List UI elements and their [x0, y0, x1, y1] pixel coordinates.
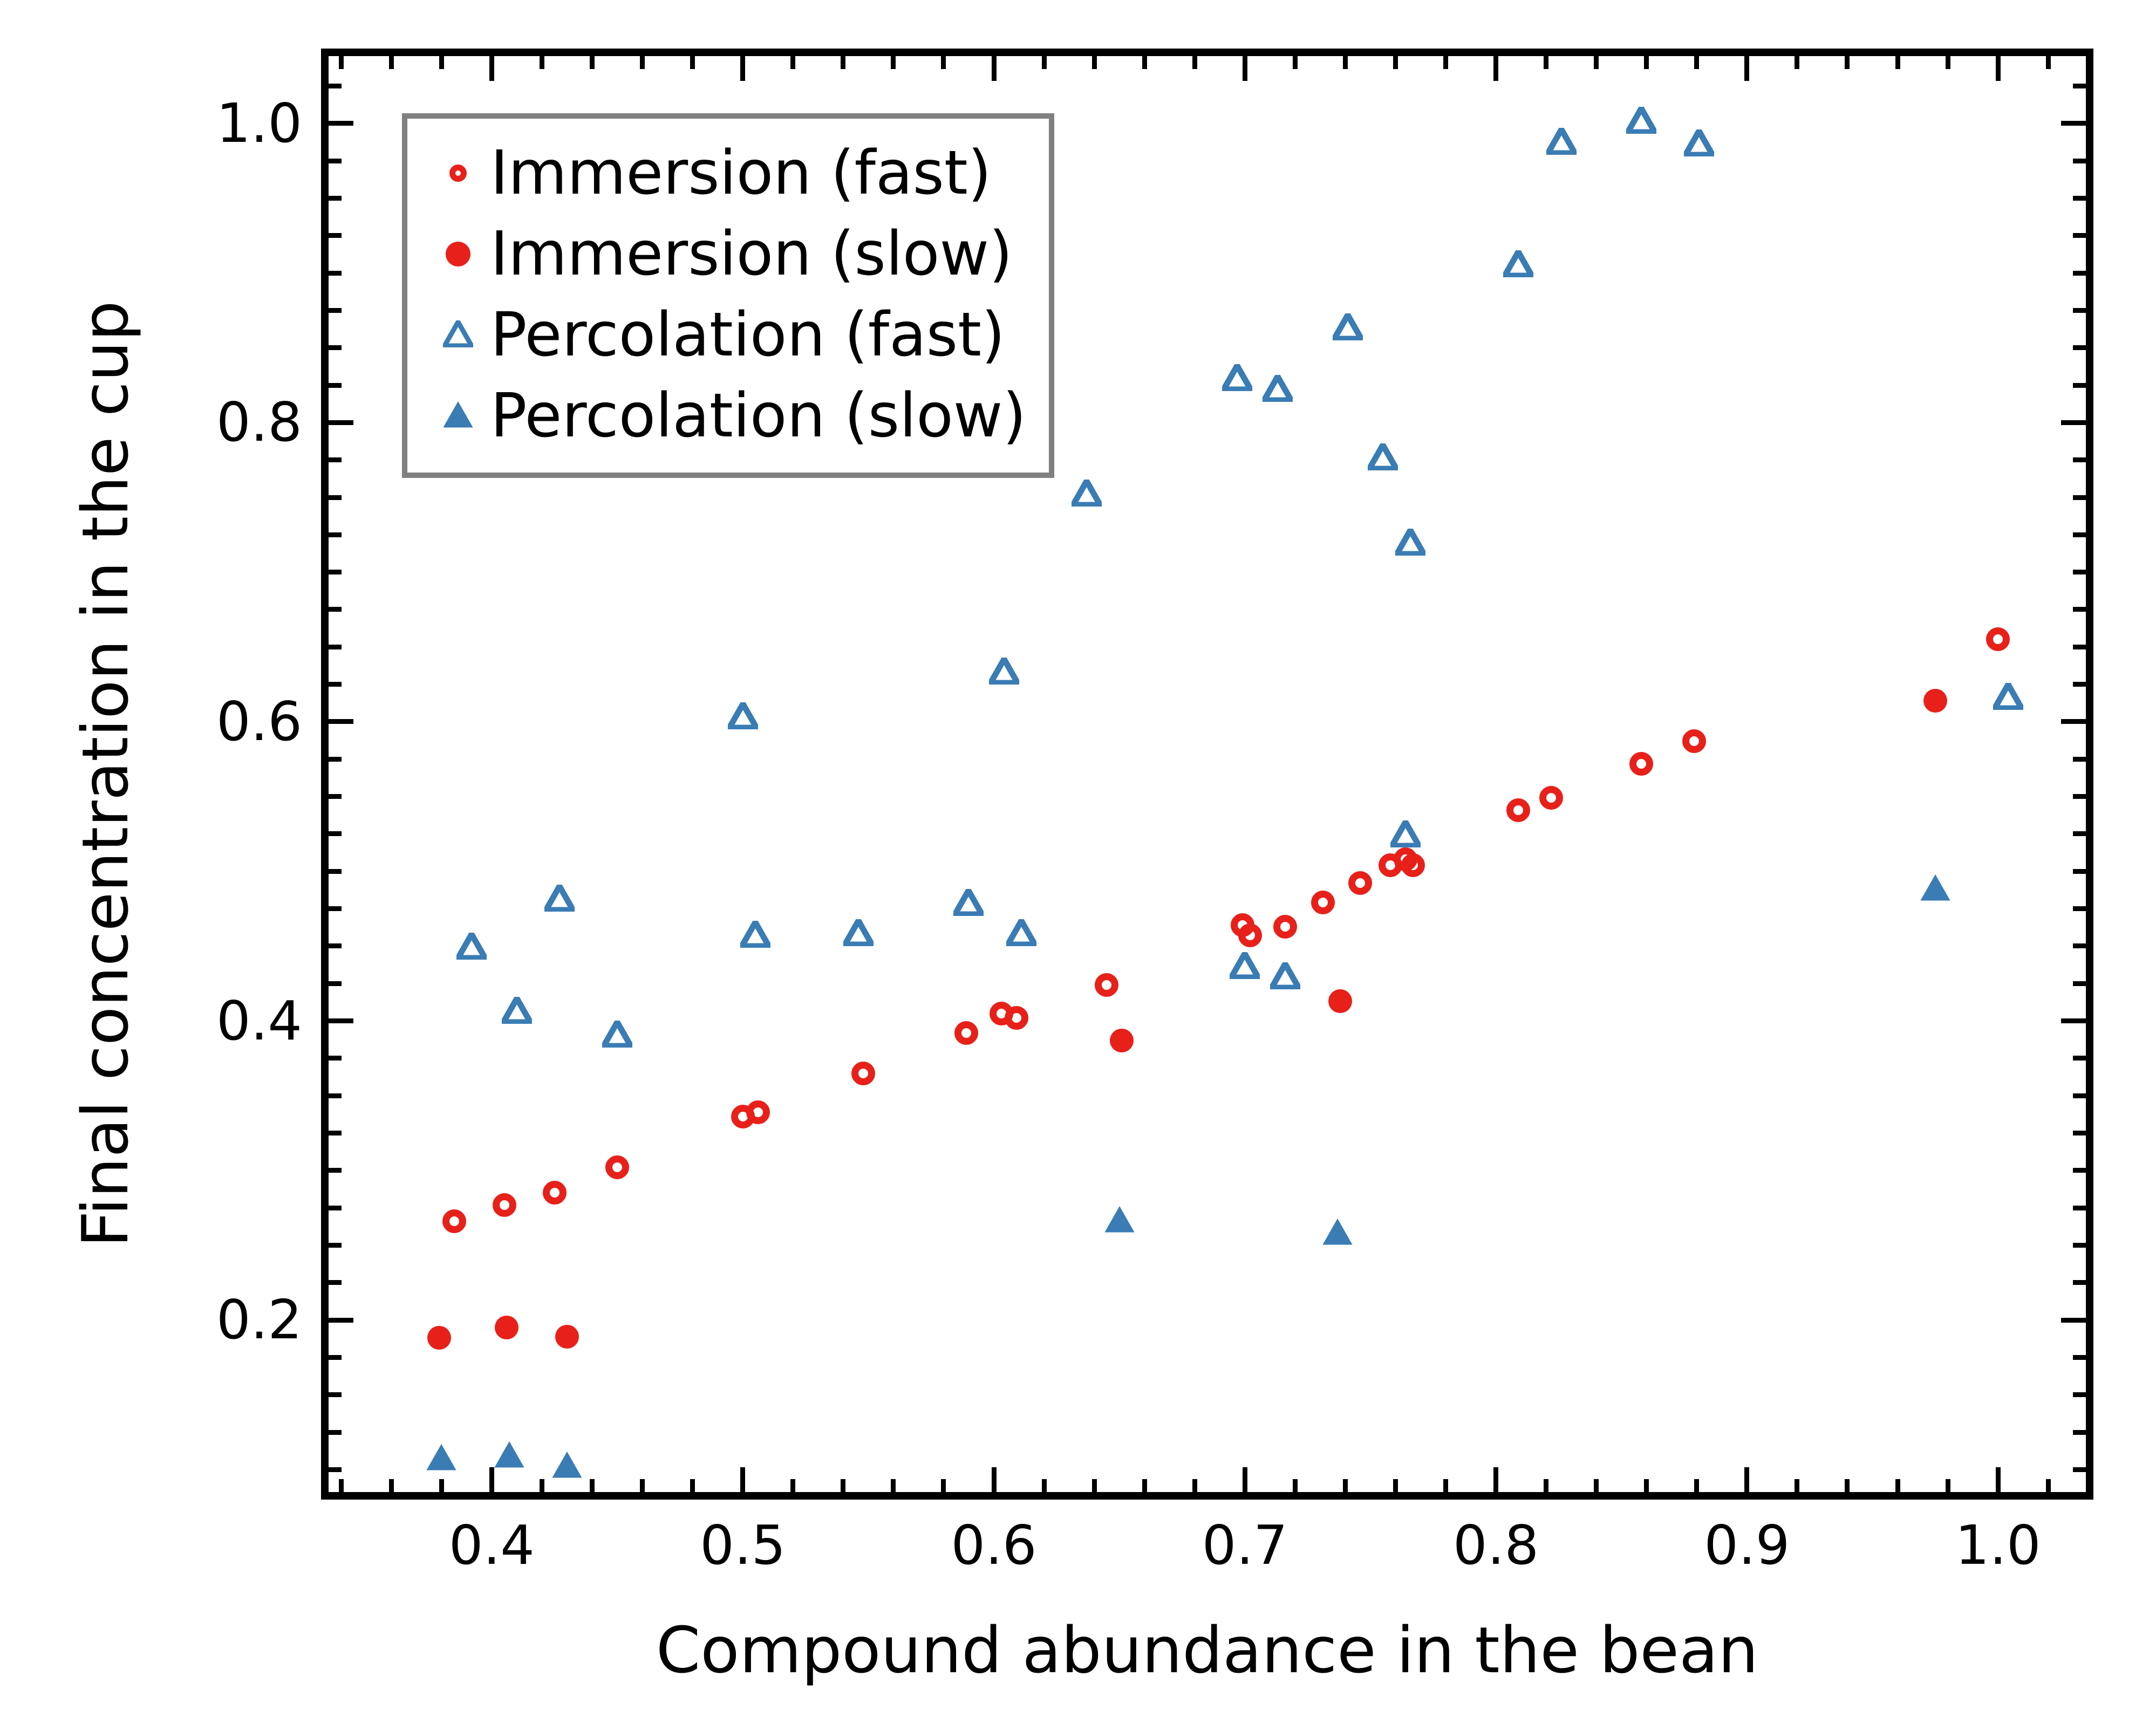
- axis-tick: [1594, 1479, 1599, 1492]
- data-point: [989, 658, 1019, 685]
- axis-tick: [2073, 906, 2086, 911]
- axis-tick: [389, 1479, 394, 1492]
- axis-tick: [329, 1243, 342, 1248]
- axis-tick: [329, 1056, 342, 1061]
- axis-tick: [2073, 831, 2086, 836]
- axis-tick: [2073, 383, 2086, 388]
- axis-tick: [1895, 56, 1900, 69]
- data-point: [1503, 250, 1533, 277]
- data-point: [552, 1452, 582, 1479]
- axis-tick: [329, 1168, 342, 1173]
- data-point: [1006, 919, 1036, 946]
- axis-tick: [2061, 420, 2086, 425]
- axis-tick: [2073, 869, 2086, 874]
- data-point: [851, 1062, 875, 1085]
- data-point: [1311, 891, 1335, 914]
- x-tick-label: 0.8: [1453, 1518, 1539, 1572]
- axis-tick: [329, 196, 342, 201]
- axis-tick: [329, 570, 342, 574]
- axis-tick: [329, 719, 353, 724]
- open-triangle-icon-wrapper: [426, 320, 490, 350]
- axis-tick: [1544, 1479, 1548, 1492]
- axis-tick: [2073, 943, 2086, 948]
- axis-tick: [2073, 1355, 2086, 1360]
- data-point: [426, 1444, 456, 1471]
- data-point: [1095, 973, 1118, 997]
- legend-item-0[interactable]: Immersion (fast): [426, 133, 1026, 214]
- data-point: [1923, 689, 1947, 713]
- axis-tick: [2061, 719, 2086, 724]
- data-point: [1222, 364, 1252, 391]
- axis-tick: [1795, 56, 1799, 69]
- axis-tick: [329, 383, 342, 388]
- legend-item-3[interactable]: Percolation (slow): [426, 375, 1026, 456]
- axis-tick: [2061, 121, 2086, 126]
- axis-tick: [1343, 56, 1348, 69]
- legend-label: Immersion (slow): [490, 224, 1013, 284]
- x-tick-label: 0.7: [1202, 1518, 1288, 1572]
- data-point: [746, 1100, 770, 1124]
- data-point: [740, 921, 770, 948]
- axis-tick: [439, 1479, 444, 1492]
- axis-tick: [2073, 345, 2086, 350]
- axis-tick: [1293, 56, 1298, 69]
- axis-tick: [2073, 757, 2086, 762]
- axis-tick: [329, 943, 342, 948]
- legend-item-2[interactable]: Percolation (fast): [426, 295, 1026, 375]
- y-tick-label: 1.0: [216, 97, 302, 150]
- axis-tick: [841, 1479, 845, 1492]
- axis-tick: [329, 645, 342, 649]
- axis-tick: [891, 56, 896, 69]
- axis-tick: [329, 420, 353, 425]
- data-point: [1682, 729, 1706, 753]
- axis-tick: [1343, 1479, 1348, 1492]
- axis-tick: [1895, 1479, 1900, 1492]
- axis-tick: [329, 233, 342, 238]
- axis-tick: [1996, 1467, 2001, 1492]
- axis-tick: [941, 1479, 946, 1492]
- axis-tick: [329, 1018, 353, 1023]
- axis-tick: [2073, 196, 2086, 201]
- data-point: [1986, 627, 2010, 651]
- data-point: [1348, 871, 1372, 895]
- y-axis-title: Final concentration in the cup: [70, 49, 140, 1500]
- axis-tick: [2061, 1018, 2086, 1023]
- data-point: [442, 1209, 466, 1233]
- y-tick-label: 0.8: [216, 395, 302, 449]
- axis-tick: [2073, 570, 2086, 574]
- axis-tick: [329, 607, 342, 612]
- axis-tick: [2061, 1318, 2086, 1323]
- axis-tick: [1092, 1479, 1097, 1492]
- data-point: [1390, 820, 1421, 847]
- axis-tick: [2073, 1243, 2086, 1248]
- data-point: [728, 702, 758, 729]
- data-point: [1328, 989, 1352, 1013]
- axis-tick: [2073, 532, 2086, 537]
- data-point: [1539, 786, 1563, 810]
- axis-tick: [891, 1479, 896, 1492]
- data-point: [1005, 1006, 1028, 1030]
- axis-tick: [740, 1467, 745, 1492]
- legend-label: Percolation (fast): [490, 305, 1005, 365]
- axis-tick: [329, 869, 342, 874]
- axis-tick: [329, 121, 353, 126]
- x-tick-label: 0.9: [1704, 1518, 1790, 1572]
- data-point: [1110, 1029, 1134, 1052]
- axis-tick: [329, 159, 342, 163]
- axis-tick: [640, 56, 645, 69]
- data-point: [1270, 962, 1300, 989]
- axis-tick: [339, 56, 344, 69]
- legend-label: Immersion (fast): [490, 143, 991, 203]
- axis-tick: [329, 84, 342, 88]
- axis-tick: [329, 1355, 342, 1360]
- axis-tick: [1744, 56, 1749, 81]
- data-point: [544, 885, 575, 912]
- axis-tick: [2073, 682, 2086, 687]
- axis-tick: [339, 1479, 344, 1492]
- axis-tick: [2073, 308, 2086, 313]
- axis-tick: [489, 56, 494, 81]
- axis-tick: [389, 56, 394, 69]
- axis-tick: [329, 981, 342, 986]
- axis-tick: [1192, 56, 1197, 69]
- axis-tick: [1845, 1479, 1850, 1492]
- axis-tick: [1594, 56, 1599, 69]
- data-point: [1401, 853, 1425, 877]
- axis-tick: [740, 56, 745, 81]
- axis-tick: [690, 56, 695, 69]
- open-circle-icon: [449, 165, 467, 182]
- legend-item-1[interactable]: Immersion (slow): [426, 214, 1026, 295]
- axis-tick: [1142, 56, 1147, 69]
- axis-tick: [489, 1467, 494, 1492]
- axis-tick: [992, 1467, 997, 1492]
- axis-tick: [2073, 457, 2086, 462]
- filled-circle-icon: [446, 242, 470, 266]
- y-tick-label: 0.4: [216, 994, 302, 1048]
- axis-tick: [1393, 1479, 1398, 1492]
- axis-tick: [590, 56, 595, 69]
- axis-tick: [329, 457, 342, 462]
- axis-tick: [2073, 1392, 2086, 1397]
- axis-tick: [790, 1479, 795, 1492]
- axis-tick: [1644, 56, 1649, 69]
- data-point: [1333, 313, 1363, 340]
- axis-tick: [439, 56, 444, 69]
- data-point: [1238, 923, 1262, 947]
- data-point: [427, 1326, 451, 1350]
- open-triangle-icon: [443, 320, 473, 350]
- data-point: [953, 889, 984, 916]
- axis-tick: [2073, 607, 2086, 612]
- filled-circle-icon-wrapper: [426, 242, 490, 266]
- scatter-plot-figure: Final concentration in the cup 0.20.40.6…: [0, 0, 2156, 1724]
- axis-tick: [1946, 1479, 1950, 1492]
- axis-tick: [329, 1093, 342, 1098]
- open-circle-icon-wrapper: [426, 165, 490, 182]
- axis-tick: [329, 532, 342, 537]
- axis-tick: [329, 757, 342, 762]
- axis-tick: [1243, 1467, 1247, 1492]
- axis-tick: [2073, 1430, 2086, 1435]
- data-point: [555, 1325, 579, 1349]
- axis-tick: [1544, 56, 1548, 69]
- axis-tick: [690, 1479, 695, 1492]
- axis-tick: [329, 831, 342, 836]
- data-point: [602, 1021, 632, 1048]
- data-point: [1626, 107, 1656, 134]
- axis-tick: [841, 56, 845, 69]
- filled-triangle-icon: [443, 401, 473, 430]
- axis-tick: [1744, 1467, 1749, 1492]
- axis-tick: [1644, 1479, 1649, 1492]
- data-point: [605, 1155, 629, 1179]
- axis-tick: [1393, 56, 1398, 69]
- data-point: [494, 1441, 524, 1468]
- data-point: [1104, 1206, 1135, 1233]
- axis-tick: [329, 1467, 342, 1472]
- x-tick-label: 0.4: [449, 1518, 535, 1572]
- axis-tick: [1092, 56, 1097, 69]
- data-point: [1322, 1219, 1353, 1246]
- axis-tick: [2073, 1467, 2086, 1472]
- y-tick-label: 0.2: [216, 1293, 302, 1347]
- data-point: [1993, 683, 2023, 710]
- data-point: [1395, 529, 1425, 556]
- filled-triangle-icon-wrapper: [426, 401, 490, 430]
- axis-tick: [941, 56, 946, 69]
- axis-tick: [992, 56, 997, 81]
- axis-tick: [2073, 1131, 2086, 1135]
- axis-tick: [329, 1206, 342, 1210]
- axis-tick: [2073, 1056, 2086, 1061]
- axis-tick: [1042, 56, 1047, 69]
- axis-tick: [1795, 1479, 1799, 1492]
- axis-tick: [1694, 1479, 1699, 1492]
- axis-tick: [2073, 794, 2086, 799]
- axis-tick: [329, 1131, 342, 1135]
- axis-tick: [1694, 56, 1699, 69]
- axis-tick: [590, 1479, 595, 1492]
- axis-tick: [2073, 84, 2086, 88]
- axis-tick: [1493, 1467, 1498, 1492]
- axis-tick: [329, 271, 342, 276]
- y-tick-label: 0.6: [216, 695, 302, 749]
- x-tick-label: 0.6: [951, 1518, 1036, 1572]
- axis-tick: [1946, 56, 1950, 69]
- axis-tick: [329, 682, 342, 687]
- data-point: [1920, 874, 1950, 901]
- axis-tick: [2046, 1479, 2051, 1492]
- axis-tick: [329, 308, 342, 313]
- axis-tick: [2073, 645, 2086, 649]
- axis-tick: [2073, 1280, 2086, 1285]
- axis-tick: [329, 1318, 353, 1323]
- axis-tick: [540, 1479, 544, 1492]
- axis-tick: [2073, 1206, 2086, 1210]
- x-axis-title: Compound abundance in the bean: [321, 1613, 2093, 1687]
- axis-tick: [2073, 495, 2086, 500]
- axis-tick: [2073, 981, 2086, 986]
- data-point: [1546, 128, 1577, 155]
- axis-tick: [2073, 1168, 2086, 1173]
- axis-tick: [1443, 1479, 1448, 1492]
- axis-tick: [329, 495, 342, 500]
- data-point: [1072, 480, 1102, 507]
- data-point: [1684, 129, 1714, 156]
- axis-tick: [640, 1479, 645, 1492]
- data-point: [954, 1021, 978, 1045]
- x-tick-label: 0.5: [700, 1518, 786, 1572]
- axis-tick: [1192, 1479, 1197, 1492]
- axis-tick: [790, 56, 795, 69]
- data-point: [843, 919, 874, 946]
- data-point: [1629, 752, 1653, 776]
- data-point: [543, 1181, 567, 1205]
- axis-tick: [329, 1392, 342, 1397]
- data-point: [493, 1193, 516, 1217]
- axis-tick: [1243, 56, 1247, 81]
- data-point: [456, 933, 487, 960]
- axis-tick: [329, 1430, 342, 1435]
- axis-tick: [2073, 271, 2086, 276]
- data-point: [495, 1316, 518, 1339]
- axis-tick: [1293, 1479, 1298, 1492]
- axis-tick: [329, 906, 342, 911]
- axis-tick: [1845, 56, 1850, 69]
- axis-tick: [1443, 56, 1448, 69]
- axis-tick: [1493, 56, 1498, 81]
- legend-label: Percolation (slow): [490, 386, 1026, 446]
- data-point: [1263, 375, 1293, 402]
- axis-tick: [329, 1280, 342, 1285]
- axis-tick: [1996, 56, 2001, 81]
- axis-tick: [329, 345, 342, 350]
- axis-tick: [1042, 1479, 1047, 1492]
- axis-tick: [2073, 159, 2086, 163]
- data-point: [1506, 798, 1530, 822]
- axis-tick: [2073, 1093, 2086, 1098]
- axis-tick: [2073, 233, 2086, 238]
- axis-tick: [329, 794, 342, 799]
- data-point: [502, 997, 532, 1024]
- axis-tick: [540, 56, 544, 69]
- data-point: [1368, 443, 1398, 470]
- axis-tick: [2046, 56, 2051, 69]
- data-point: [1230, 952, 1260, 979]
- x-tick-label: 1.0: [1955, 1518, 2041, 1572]
- data-point: [1273, 915, 1297, 939]
- legend: Immersion (fast)Immersion (slow)Percolat…: [402, 113, 1054, 478]
- axis-tick: [1142, 1479, 1147, 1492]
